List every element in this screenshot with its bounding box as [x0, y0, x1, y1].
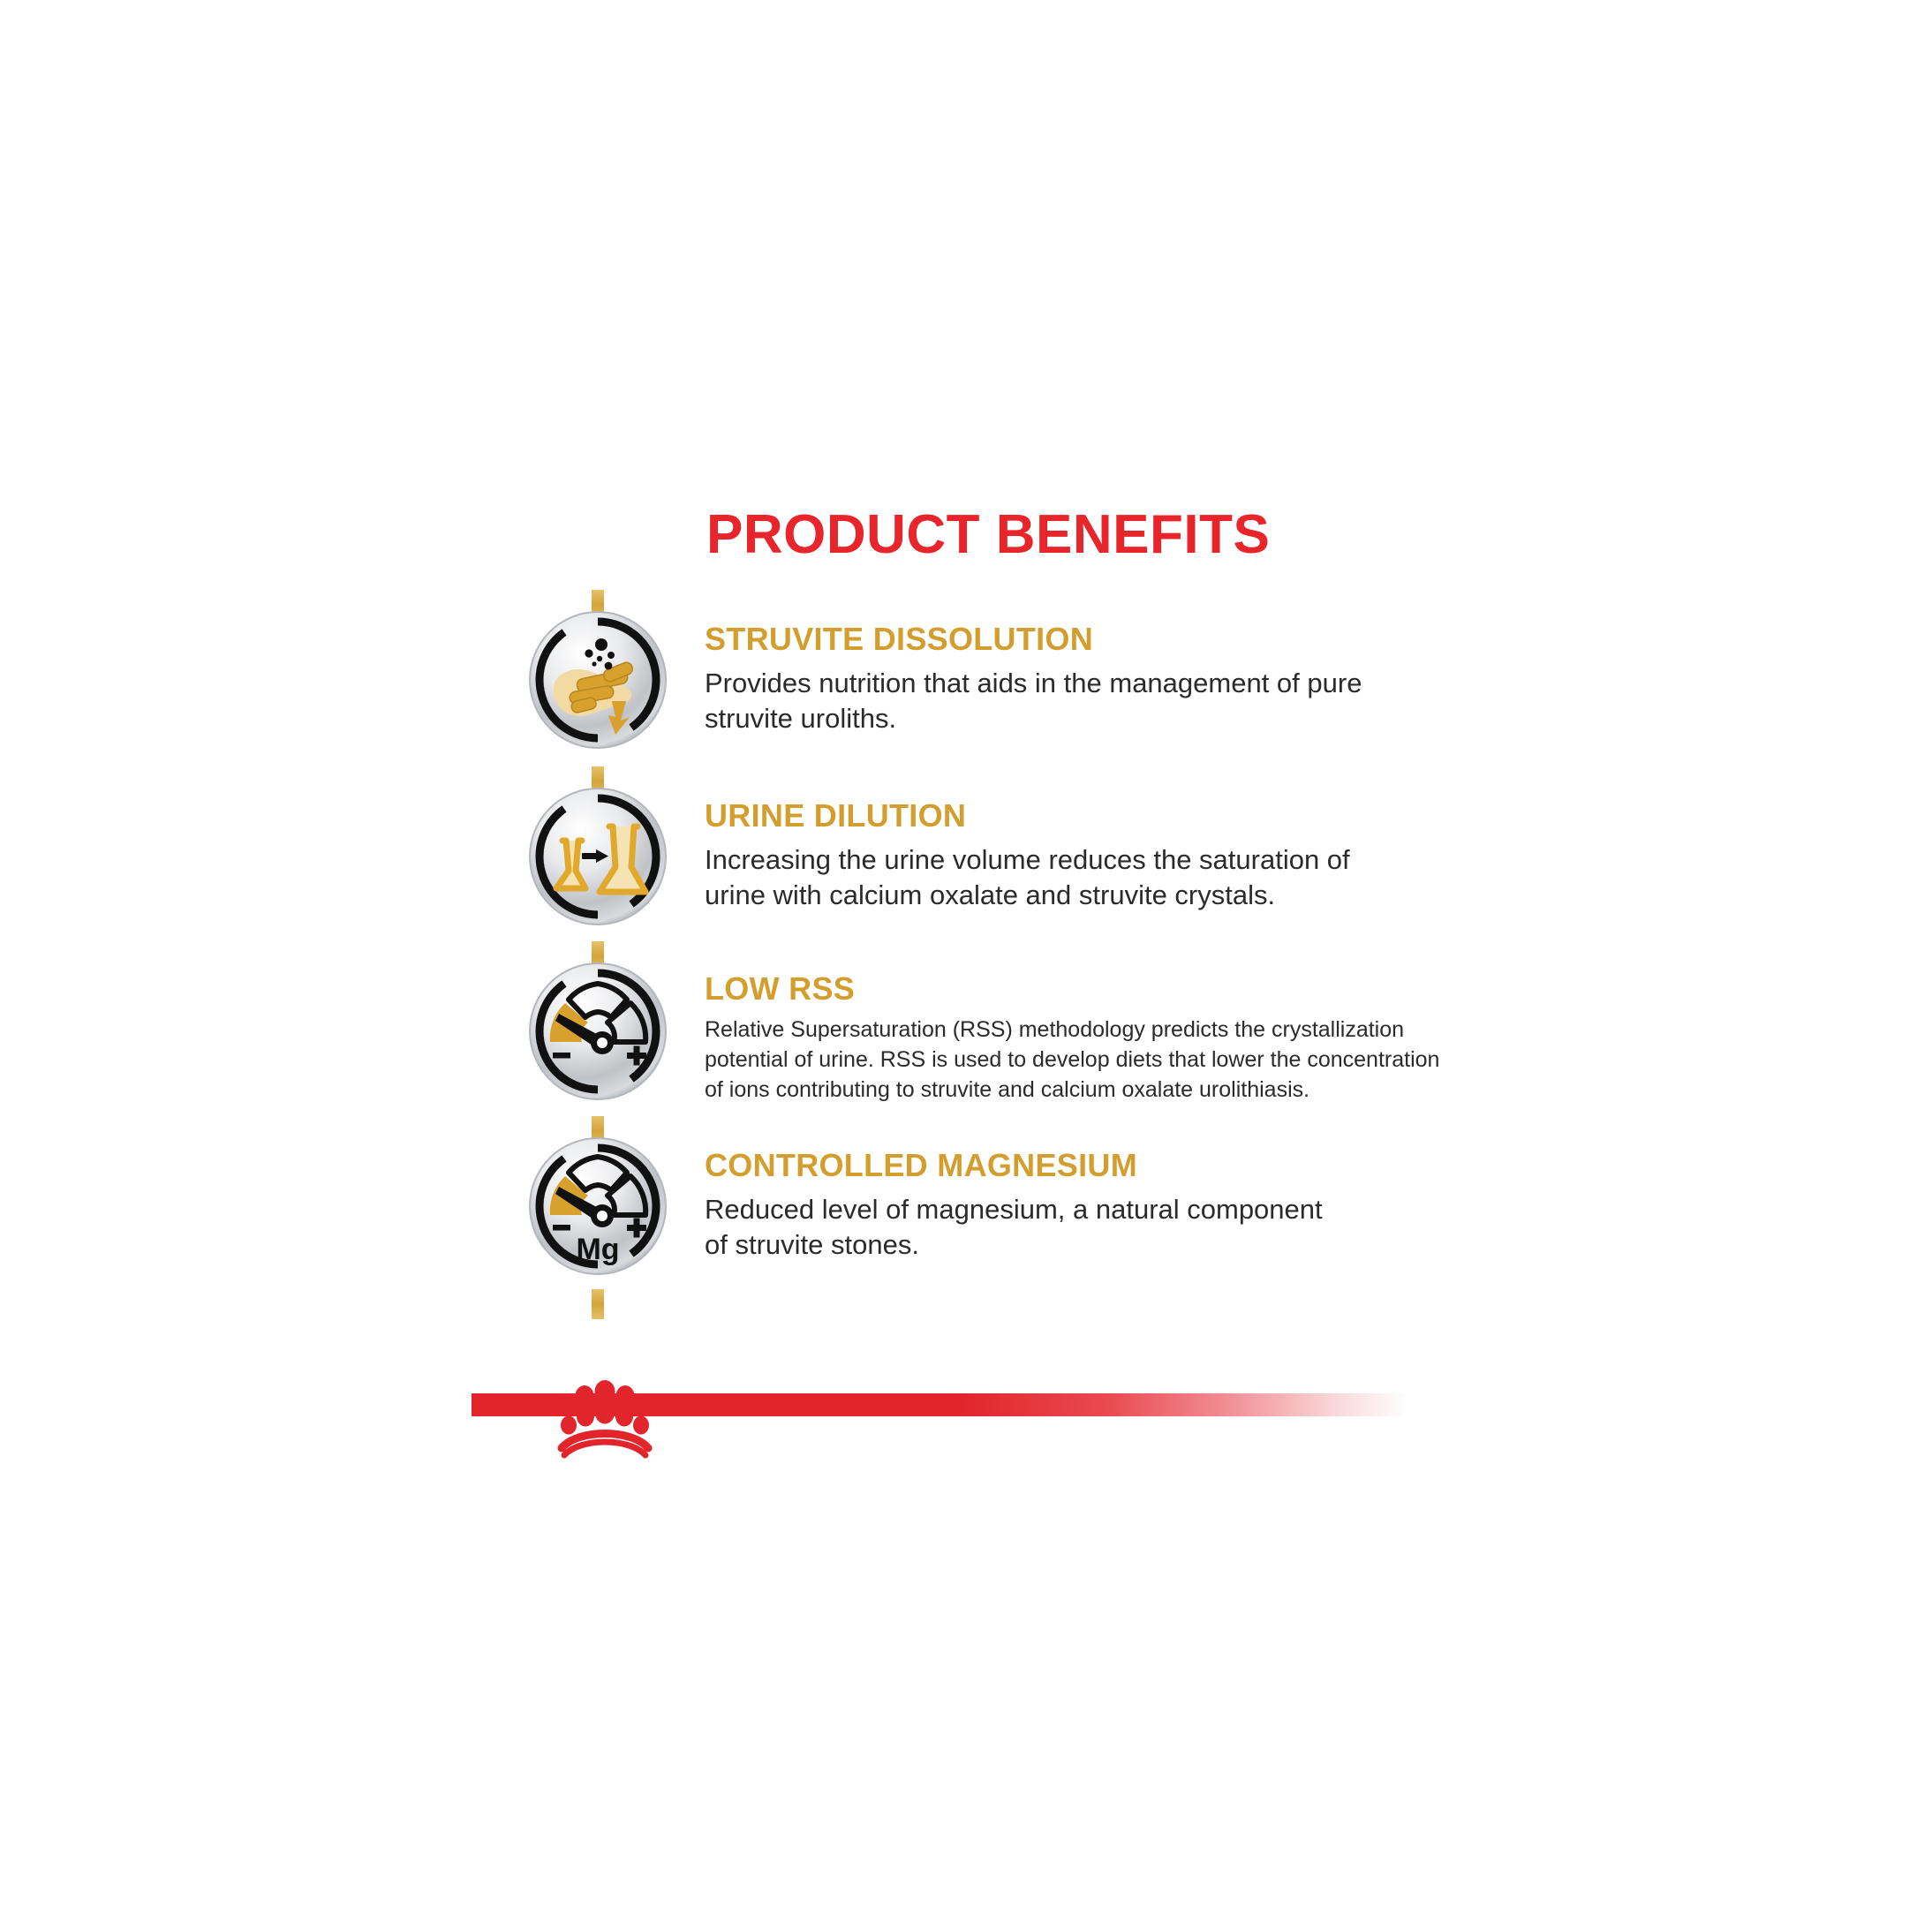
benefit-body: Increasing the urine volume reduces the …: [705, 842, 1482, 912]
benefit-body: Reduced level of magnesium, a natural co…: [705, 1192, 1482, 1262]
gauge-low-icon: [527, 961, 668, 1102]
struvite-crystals-hand-icon: [527, 609, 668, 751]
benefit-text-low-rss: LOW RSS Relative Supersaturation (RSS) m…: [705, 973, 1482, 1105]
benefit-text-urine-dilution: URINE DILUTION Increasing the urine volu…: [705, 800, 1482, 912]
benefit-body: Provides nutrition that aids in the mana…: [705, 666, 1482, 736]
benefit-heading: LOW RSS: [705, 973, 1482, 1005]
benefit-body-line: Increasing the urine volume reduces the …: [705, 842, 1482, 878]
connector-dash-bottom: [592, 1289, 604, 1319]
royal-canin-crown-logo: [547, 1367, 662, 1464]
benefit-text-struvite-dissolution: STRUVITE DISSOLUTION Provides nutrition …: [705, 623, 1482, 736]
gauge-magnesium-icon: Mg: [527, 1136, 668, 1277]
benefit-body-line: struvite uroliths.: [705, 701, 1482, 736]
product-benefits-page: PRODUCT BENEFITS: [0, 0, 1932, 1932]
benefit-body-line: Provides nutrition that aids in the mana…: [705, 666, 1482, 701]
benefit-body-line: urine with calcium oxalate and struvite …: [705, 878, 1482, 913]
benefit-body: Relative Supersaturation (RSS) methodolo…: [705, 1015, 1482, 1105]
benefit-text-controlled-magnesium: CONTROLLED MAGNESIUM Reduced level of ma…: [705, 1150, 1482, 1262]
benefit-heading: URINE DILUTION: [705, 800, 1482, 832]
benefit-body-line: Reduced level of magnesium, a natural co…: [705, 1192, 1482, 1227]
benefit-body-line: potential of urine. RSS is used to devel…: [705, 1045, 1482, 1075]
two-beakers-arrow-icon: [527, 786, 668, 927]
gauge-magnesium-label: Mg: [576, 1233, 619, 1266]
benefit-heading: STRUVITE DISSOLUTION: [705, 623, 1482, 655]
benefit-heading: CONTROLLED MAGNESIUM: [705, 1150, 1482, 1181]
benefit-body-line: of struvite stones.: [705, 1227, 1482, 1263]
footer: [0, 1374, 1932, 1480]
benefit-body-line: Relative Supersaturation (RSS) methodolo…: [705, 1015, 1482, 1045]
benefit-body-line: of ions contributing to struvite and cal…: [705, 1075, 1482, 1106]
page-title: PRODUCT BENEFITS: [706, 503, 1270, 566]
